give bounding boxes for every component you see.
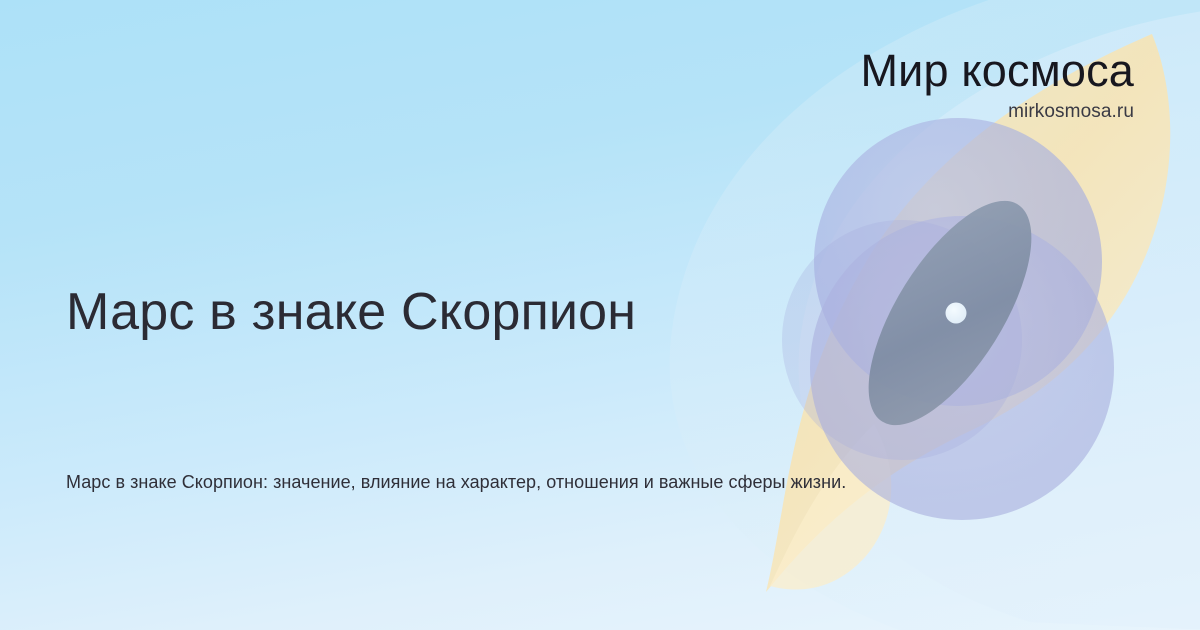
- core-ellipse: [837, 176, 1063, 449]
- social-share-card: Мир космоса mirkosmosa.ru Марс в знаке С…: [0, 0, 1200, 630]
- page-description: Марс в знаке Скорпион: значение, влияние…: [66, 465, 1026, 500]
- crescent-tail-shape: [770, 424, 891, 590]
- brand-domain: mirkosmosa.ru: [860, 102, 1134, 121]
- sphere-left: [782, 220, 1022, 460]
- sphere-upper: [814, 118, 1102, 406]
- brand-title: Мир космоса: [860, 48, 1134, 93]
- core-dot: [946, 303, 967, 324]
- brand-logo[interactable]: Мир космоса mirkosmosa.ru: [860, 48, 1134, 121]
- page-title: Марс в знаке Скорпион: [66, 282, 636, 342]
